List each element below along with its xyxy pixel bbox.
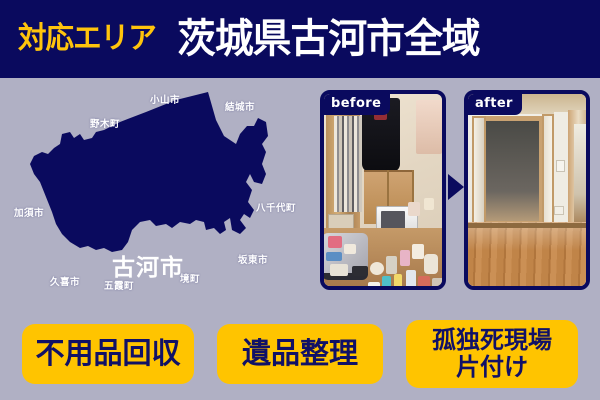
map-neighbor-label-kuki: 久喜市 — [50, 274, 80, 288]
coverage-map: 古河市 小山市 結城市 野木町 加須市 八千代町 坂東市 境町 五霞町 久喜市 — [0, 78, 312, 306]
service-button-lonely-death-cleanup[interactable]: 孤独死現場 片付け — [406, 320, 578, 388]
map-neighbor-label-bando: 坂東市 — [238, 252, 268, 266]
banner-header: 対応エリア 茨城県古河市全域 — [0, 0, 600, 78]
before-after-arrow-icon — [448, 174, 464, 200]
koga-city-polygon — [30, 92, 268, 252]
after-badge: after — [468, 94, 522, 115]
service-label-lonely-death-line1: 孤独死現場 — [432, 327, 552, 354]
service-button-estate-cleanup[interactable]: 遺品整理 — [217, 324, 383, 384]
map-neighbor-label-yuki: 結城市 — [225, 99, 255, 113]
map-neighbor-label-sakai: 境町 — [180, 271, 200, 285]
before-after-photos: before after — [312, 78, 600, 306]
map-neighbor-label-nogi: 野木町 — [90, 116, 120, 130]
after-photo-image: after — [468, 94, 586, 286]
map-center-city-label: 古河市 — [112, 248, 184, 282]
area-tag-label: 対応エリア — [18, 24, 156, 54]
map-neighbor-label-kazo: 加須市 — [14, 205, 44, 219]
before-badge: before — [324, 94, 390, 115]
service-label-recycling: 不用品回収 — [35, 338, 180, 369]
map-neighbor-label-goka: 五霞町 — [104, 278, 134, 292]
service-buttons: 不用品回収 遺品整理 孤独死現場 片付け — [0, 308, 600, 400]
service-area-banner: 対応エリア 茨城県古河市全域 古河市 小山市 結城市 野木町 加須市 八千代町 … — [0, 0, 600, 400]
service-button-recycling[interactable]: 不用品回収 — [22, 324, 194, 384]
page-title: 茨城県古河市全域 — [177, 19, 480, 59]
after-photo-card: after — [464, 90, 590, 290]
service-label-lonely-death-line2: 片付け — [456, 354, 528, 381]
before-photo-card: before — [320, 90, 446, 290]
map-neighbor-label-yachiyo: 八千代町 — [256, 200, 296, 214]
before-photo-image: before — [324, 94, 442, 286]
service-label-estate-cleanup: 遺品整理 — [242, 338, 358, 369]
map-neighbor-label-oyama: 小山市 — [150, 92, 180, 106]
